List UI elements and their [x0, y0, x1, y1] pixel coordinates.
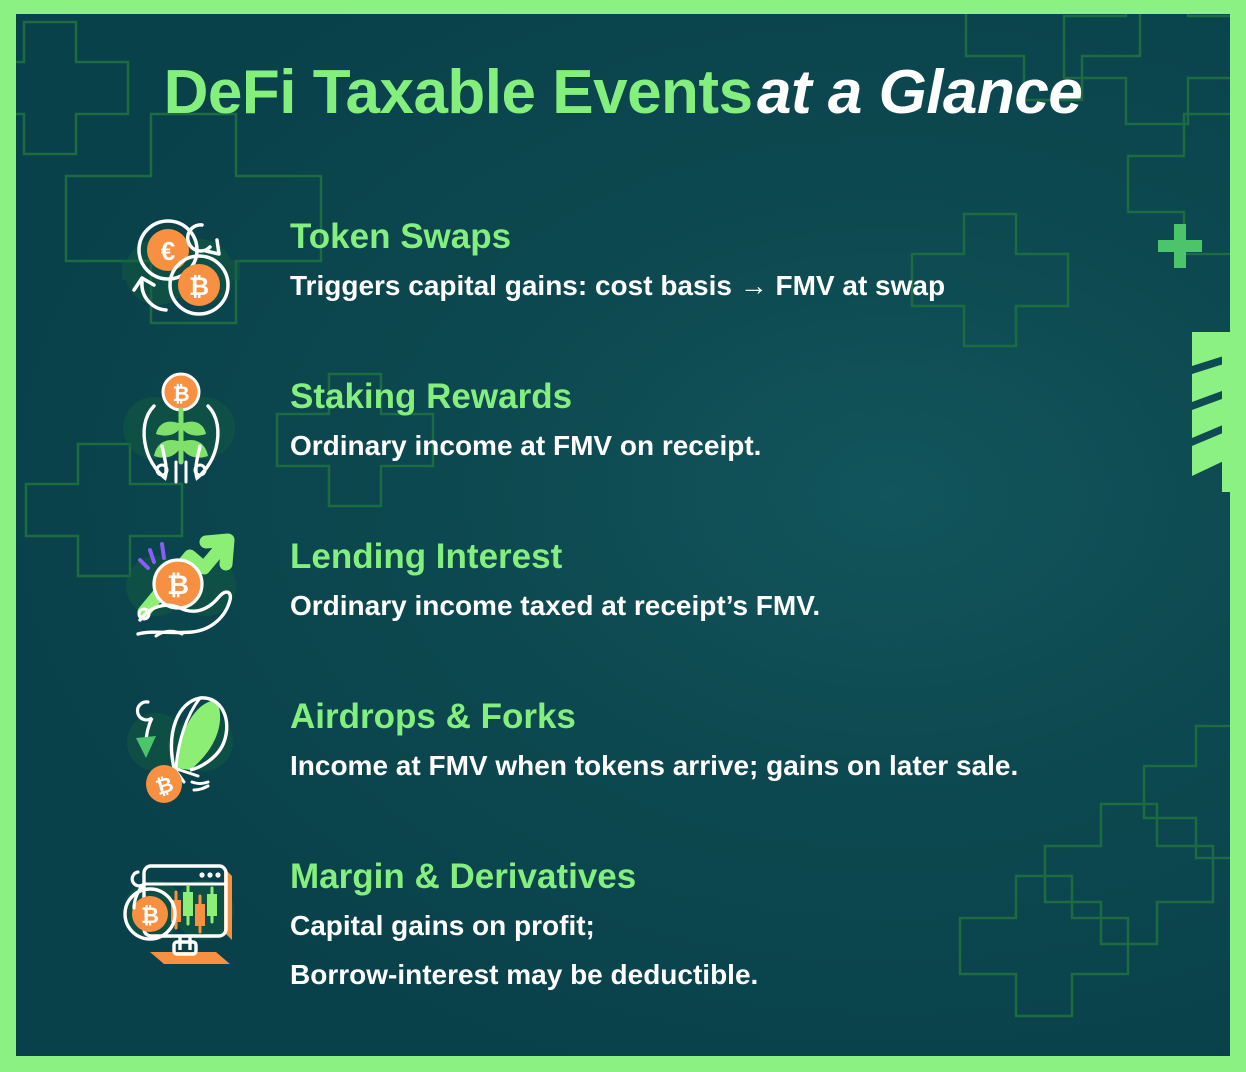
list-item-staking-rewards[interactable]: ₿ Staking Rewards Ord — [16, 364, 1230, 524]
infographic-poster: DeFi Taxable Events at a Glance — [0, 0, 1246, 1072]
item-text-block: Token Swaps Triggers capital gains: cost… — [242, 204, 945, 304]
item-description-line-2: Borrow-interest may be deductible. — [290, 956, 758, 994]
page-title: DeFi Taxable Events at a Glance — [16, 62, 1230, 124]
item-title: Staking Rewards — [290, 378, 761, 417]
svg-text:₿: ₿ — [172, 383, 189, 406]
item-description: Triggers capital gains: cost basis → FMV… — [290, 267, 945, 305]
svg-text:₿: ₿ — [167, 570, 189, 600]
taxable-events-list: € ₿ Token Swaps Triggers capital gains: … — [16, 204, 1230, 1044]
list-item-margin-derivatives[interactable]: ₿ Margin & Derivatives Capital gains on … — [16, 844, 1230, 1044]
token-swap-coins-icon: € ₿ — [120, 206, 242, 328]
list-item-token-swaps[interactable]: € ₿ Token Swaps Triggers capital gains: … — [16, 204, 1230, 364]
margin-monitor-chart-icon: ₿ — [120, 846, 242, 968]
lending-hand-arrow-icon: ₿ — [120, 526, 242, 648]
item-description: Ordinary income taxed at receipt’s FMV. — [290, 587, 820, 625]
svg-text:₿: ₿ — [189, 273, 209, 301]
svg-text:₿: ₿ — [141, 903, 159, 928]
staking-hands-plant-icon: ₿ — [120, 366, 242, 488]
item-description: Income at FMV when tokens arrive; gains … — [290, 747, 1018, 785]
title-main-text: DeFi Taxable Events — [164, 58, 753, 127]
item-title: Margin & Derivatives — [290, 858, 758, 897]
list-item-lending-interest[interactable]: ₿ Lending Interest Ordinary income taxed… — [16, 524, 1230, 684]
item-text-block: Lending Interest Ordinary income taxed a… — [242, 524, 820, 624]
poster-canvas: DeFi Taxable Events at a Glance — [16, 14, 1230, 1056]
item-text-block: Airdrops & Forks Income at FMV when toke… — [242, 684, 1018, 784]
item-title: Lending Interest — [290, 538, 820, 577]
svg-text:€: € — [161, 236, 175, 266]
item-title: Airdrops & Forks — [290, 698, 1018, 737]
item-description: Ordinary income at FMV on receipt. — [290, 427, 761, 465]
item-title: Token Swaps — [290, 218, 945, 257]
title-sub-text: at a Glance — [757, 58, 1082, 127]
item-text-block: Margin & Derivatives Capital gains on pr… — [242, 844, 758, 994]
item-description-line-1: Capital gains on profit; — [290, 907, 758, 945]
item-text-block: Staking Rewards Ordinary income at FMV o… — [242, 364, 761, 464]
list-item-airdrops-forks[interactable]: ₿ Airdrops & Forks Income at FMV when to… — [16, 684, 1230, 844]
airdrop-parachute-icon: ₿ — [120, 686, 242, 808]
